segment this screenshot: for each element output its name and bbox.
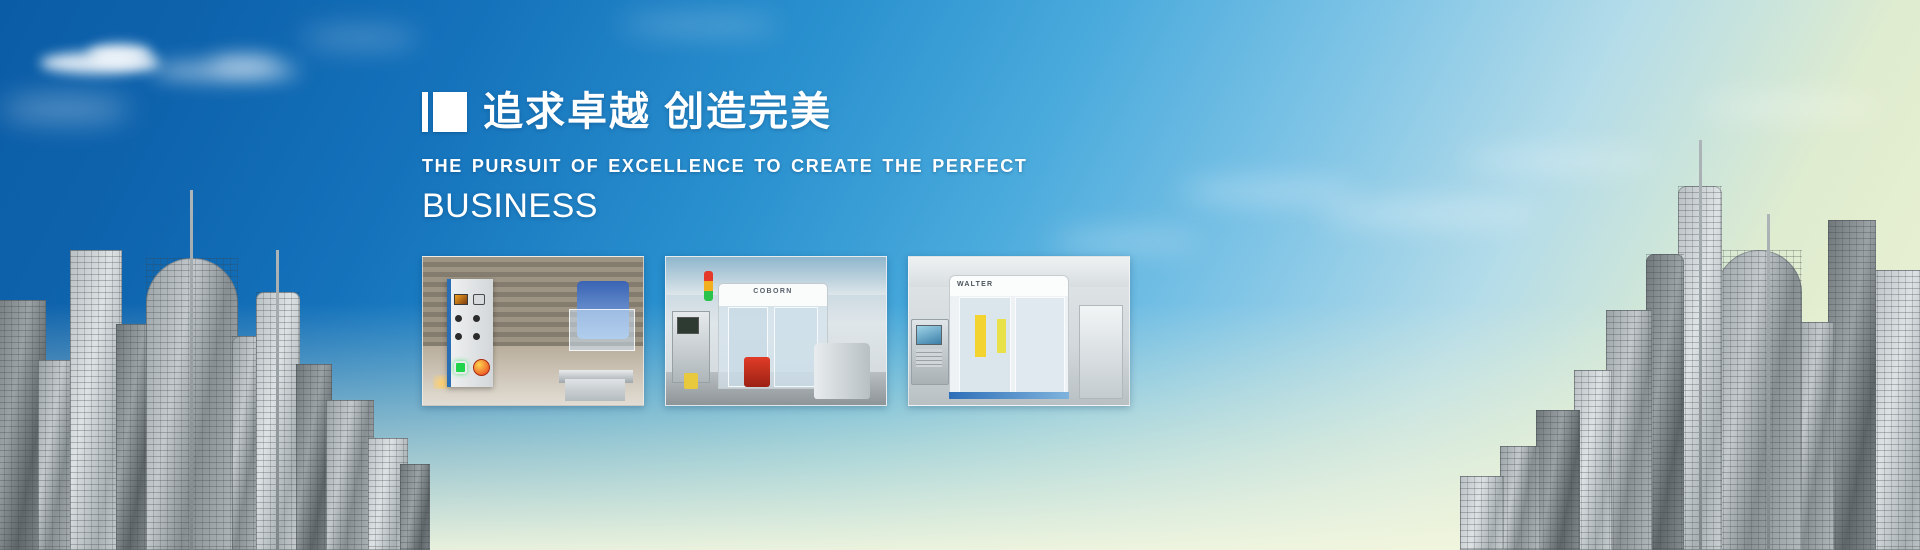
cloud-shape — [88, 44, 152, 64]
city-skyline-right — [1460, 80, 1920, 550]
enclosure-glass-panel — [774, 307, 818, 387]
banner-copy: 追求卓越 创造完美 THEPURSUITOFEXCELLENCETOCREATE… — [422, 88, 1027, 226]
cloud-shape — [300, 30, 420, 46]
filled-square-icon — [433, 92, 467, 132]
side-cabinet — [1079, 305, 1123, 399]
coborn-brand-label: COBORN — [718, 288, 828, 295]
console-display — [677, 317, 699, 334]
emergency-stop-button — [473, 359, 490, 376]
machine-guard — [569, 309, 635, 351]
building — [1716, 250, 1802, 550]
yellow-machine-part — [975, 315, 986, 357]
city-skyline-left — [0, 120, 430, 550]
building — [1606, 310, 1652, 550]
control-gauge — [473, 294, 485, 305]
yellow-container — [684, 373, 698, 389]
hmi-keypad — [916, 349, 942, 367]
building — [1500, 446, 1540, 550]
subtitle-word: OF — [571, 156, 599, 176]
photo-cnc-milling-machine[interactable] — [422, 256, 644, 406]
cloud-shape — [0, 96, 130, 122]
signal-light-amber — [704, 281, 713, 291]
antenna-spire — [276, 250, 279, 550]
yellow-machine-part — [997, 319, 1006, 353]
start-button-green — [454, 361, 467, 374]
signal-light-green — [704, 291, 713, 301]
building — [116, 324, 150, 550]
subtitle-word: PERFECT — [932, 156, 1027, 176]
enclosure-glass-panel — [1015, 297, 1065, 393]
subtitle-english: THEPURSUITOFEXCELLENCETOCREATETHEPERFECT — [422, 156, 1027, 177]
antenna-spire — [1699, 140, 1702, 550]
building — [1460, 476, 1504, 550]
red-workpiece — [744, 357, 770, 387]
cloud-shape — [210, 56, 280, 72]
walter-brand-label: WALTER — [957, 281, 993, 288]
control-knob — [473, 333, 480, 340]
hero-banner: 追求卓越 创造完美 THEPURSUITOFEXCELLENCETOCREATE… — [0, 0, 1920, 550]
building — [1828, 220, 1876, 550]
control-knob — [473, 315, 480, 322]
headline-chinese: 追求卓越 创造完美 — [483, 90, 832, 134]
cloud-shape — [620, 18, 780, 32]
vertical-bar-icon — [422, 92, 428, 132]
cloud-shape — [1180, 180, 1360, 202]
building — [1870, 270, 1920, 550]
subtitle-word: THE — [422, 156, 463, 176]
subtitle-word: CREATE — [791, 156, 873, 176]
photo-walter-tool-grinder[interactable]: WALTER — [908, 256, 1130, 406]
headline-row: 追求卓越 创造完美 — [422, 88, 1027, 136]
signal-light-red — [704, 271, 713, 281]
building — [70, 250, 122, 550]
cloud-shape — [1050, 232, 1200, 250]
machine-base — [565, 379, 625, 401]
business-word: BUSINESS — [422, 187, 1027, 226]
subtitle-word: PURSUIT — [472, 156, 562, 176]
building — [326, 400, 374, 550]
signal-tower-light — [704, 271, 713, 301]
coolant-drum — [814, 343, 870, 399]
antenna-spire — [190, 190, 193, 550]
machine-base-stripe — [949, 392, 1069, 399]
product-photo-strip: COBORN WALTER — [422, 256, 1130, 406]
control-screen — [454, 294, 468, 305]
building — [1536, 410, 1580, 550]
photo-coborn-grinding-machine[interactable]: COBORN — [665, 256, 887, 406]
control-knob — [455, 315, 462, 322]
antenna-spire — [1767, 214, 1770, 550]
subtitle-word: THE — [882, 156, 923, 176]
hmi-display — [916, 325, 942, 345]
logo-mark — [422, 92, 467, 132]
subtitle-word: EXCELLENCE — [608, 156, 745, 176]
control-knob — [455, 333, 462, 340]
subtitle-word: TO — [754, 156, 782, 176]
building — [400, 464, 430, 550]
